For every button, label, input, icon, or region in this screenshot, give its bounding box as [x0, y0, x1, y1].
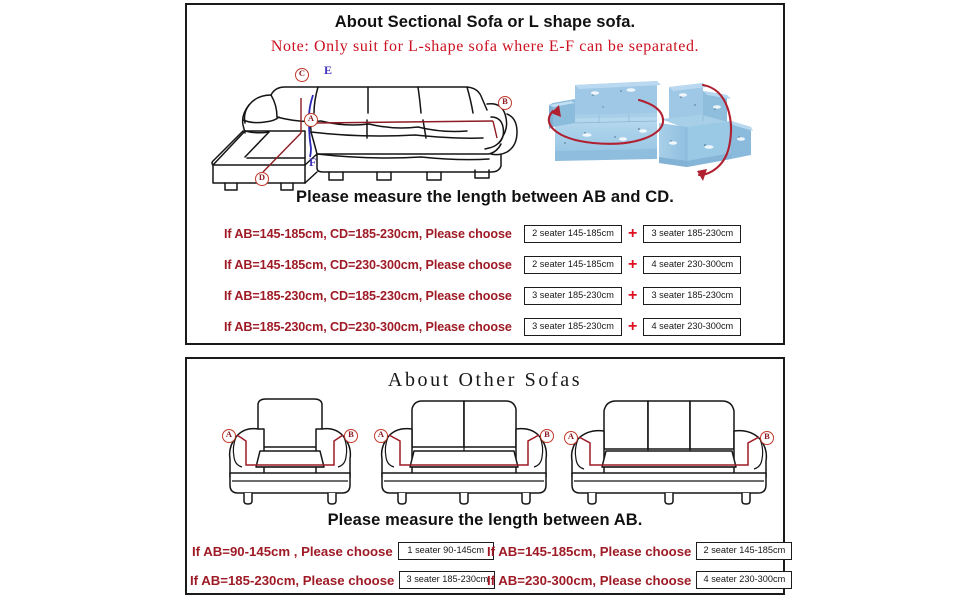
- seat-option-box[interactable]: 1 seater 90-145cm: [398, 542, 494, 560]
- one-seater-sofa-diagram: A B: [212, 395, 367, 507]
- sectional-note-text: Note: Only suit for L-shape sofa where E…: [187, 38, 783, 56]
- plus-icon: +: [628, 257, 637, 273]
- three-seater-sofa-diagram: A B: [562, 395, 777, 507]
- choice-row: If AB=185-230cm, Please choose 3 seater …: [190, 571, 495, 589]
- seat-option-box[interactable]: 3 seater 185-230cm: [524, 287, 622, 305]
- choice-row: If AB=185-230cm, CD=185-230cm, Please ch…: [224, 287, 741, 305]
- seat-option-box[interactable]: 4 seater 230-300cm: [643, 256, 741, 274]
- one-seater-illustration: [212, 395, 367, 507]
- condition-label: If AB=185-230cm, Please choose: [190, 573, 394, 588]
- measure-instruction-ab: Please measure the length between AB.: [187, 511, 783, 530]
- label-bubble-c: C: [295, 68, 309, 82]
- choice-row: If AB=145-185cm, CD=185-230cm, Please ch…: [224, 225, 741, 243]
- label-bubble-a: A: [564, 431, 578, 445]
- label-f: F: [309, 155, 316, 170]
- choice-row: If AB=145-185cm, CD=230-300cm, Please ch…: [224, 256, 741, 274]
- label-bubble-b: B: [760, 431, 774, 445]
- seat-option-box[interactable]: 3 seater 185-230cm: [643, 225, 741, 243]
- plus-icon: +: [628, 319, 637, 335]
- l-shape-sofa-illustration: [205, 60, 535, 185]
- label-bubble-a: A: [374, 429, 388, 443]
- blue-sofa-photo-diagram: [535, 63, 775, 183]
- label-bubble-b: B: [540, 429, 554, 443]
- condition-label: If AB=145-185cm, CD=230-300cm, Please ch…: [224, 258, 524, 272]
- other-sofas-panel: About Other Sofas: [185, 357, 785, 595]
- page-title: About Sectional Sofa or L shape sofa.: [187, 13, 783, 32]
- seat-option-box[interactable]: 3 seater 185-230cm: [643, 287, 741, 305]
- label-bubble-a: A: [304, 113, 318, 127]
- condition-label: If AB=185-230cm, CD=185-230cm, Please ch…: [224, 289, 524, 303]
- condition-label: If AB=145-185cm, Please choose: [487, 544, 691, 559]
- condition-label: If AB=185-230cm, CD=230-300cm, Please ch…: [224, 320, 524, 334]
- condition-label: If AB=145-185cm, CD=185-230cm, Please ch…: [224, 227, 524, 241]
- plus-icon: +: [628, 226, 637, 242]
- seat-option-box[interactable]: 4 seater 230-300cm: [643, 318, 741, 336]
- condition-label: If AB=230-300cm, Please choose: [487, 573, 691, 588]
- choice-row: If AB=90-145cm , Please choose 1 seater …: [192, 542, 494, 560]
- seat-option-box[interactable]: 4 seater 230-300cm: [696, 571, 792, 589]
- sectional-sofa-panel: About Sectional Sofa or L shape sofa. No…: [185, 3, 785, 345]
- condition-label: If AB=90-145cm , Please choose: [192, 544, 393, 559]
- choice-row: If AB=185-230cm, CD=230-300cm, Please ch…: [224, 318, 741, 336]
- label-bubble-b: B: [498, 96, 512, 110]
- other-sofas-title: About Other Sofas: [187, 369, 783, 392]
- measure-instruction-abcd: Please measure the length between AB and…: [187, 188, 783, 207]
- seat-option-box[interactable]: 2 seater 145-185cm: [696, 542, 792, 560]
- label-e: E: [324, 63, 332, 78]
- l-shape-sofa-diagram: C E A F B D: [205, 60, 535, 185]
- label-bubble-d: D: [255, 172, 269, 186]
- label-bubble-a: A: [222, 429, 236, 443]
- two-seater-illustration: [372, 395, 557, 507]
- seat-option-box[interactable]: 2 seater 145-185cm: [524, 225, 622, 243]
- seat-option-box[interactable]: 3 seater 185-230cm: [524, 318, 622, 336]
- choice-row: If AB=145-185cm, Please choose 2 seater …: [487, 542, 792, 560]
- seat-option-box[interactable]: 2 seater 145-185cm: [524, 256, 622, 274]
- choice-row: If AB=230-300cm, Please choose 4 seater …: [487, 571, 792, 589]
- blue-sofa-illustration: [535, 63, 775, 183]
- three-seater-illustration: [562, 395, 777, 507]
- two-seater-sofa-diagram: A B: [372, 395, 557, 507]
- label-bubble-b: B: [344, 429, 358, 443]
- plus-icon: +: [628, 288, 637, 304]
- seat-option-box[interactable]: 3 seater 185-230cm: [399, 571, 495, 589]
